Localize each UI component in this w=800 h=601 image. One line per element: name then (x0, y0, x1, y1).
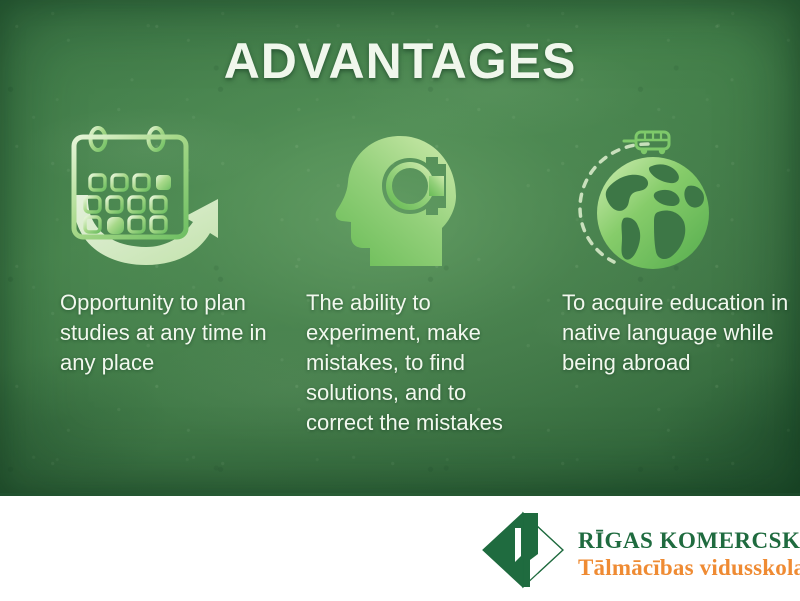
advantage-icon-1-wrap (60, 120, 275, 270)
logo-line-secondary: Tālmācības vidusskola (578, 554, 800, 581)
advantage-column-1: Opportunity to plan studies at any time … (60, 120, 275, 378)
calendar-arrow-icon (68, 125, 243, 270)
logo-line-primary: RĪGAS KOMERCSKOLA (578, 528, 800, 554)
advantages-columns: Opportunity to plan studies at any time … (0, 120, 800, 460)
advantage-icon-3-wrap (562, 120, 790, 270)
advantage-icon-2-wrap (306, 120, 536, 270)
page-title: ADVANTAGES (0, 36, 800, 86)
brand-logo: RĪGAS KOMERCSKOLA Tālmācības vidusskola (480, 508, 790, 592)
slide: ADVANTAGES (0, 0, 800, 601)
advantage-text-1: Opportunity to plan studies at any time … (60, 270, 275, 378)
diamond-logo-mark (480, 510, 566, 595)
head-lightbulb-icon (334, 132, 484, 267)
footer: RĪGAS KOMERCSKOLA Tālmācības vidusskola (0, 496, 800, 601)
advantage-column-2: The ability to experiment, make mistakes… (306, 120, 536, 438)
advantage-text-3: To acquire education in native language … (562, 270, 790, 378)
advantage-text-2: The ability to experiment, make mistakes… (306, 270, 536, 438)
advantage-column-3: To acquire education in native language … (562, 120, 790, 378)
globe-bus-icon (574, 120, 734, 270)
logo-wordmark: RĪGAS KOMERCSKOLA Tālmācības vidusskola (578, 528, 800, 581)
